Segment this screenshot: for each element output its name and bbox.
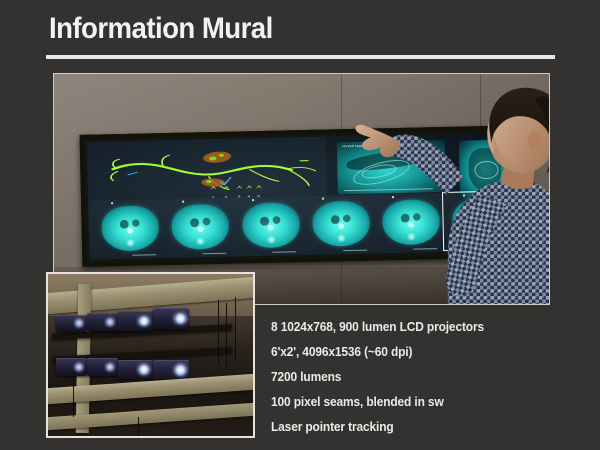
inset-photo-projector-rack [46, 272, 255, 438]
main-photo: 1 2 3 4 5 curved sagittal [53, 73, 550, 305]
title-divider [46, 55, 555, 59]
projector [87, 313, 118, 331]
sagittal-view-panel: curved sagittal [337, 140, 447, 194]
projector [153, 308, 190, 329]
projector [118, 360, 153, 379]
ct-slice [101, 206, 159, 252]
projector-lens [105, 362, 115, 372]
projector-lens [174, 313, 187, 325]
sagittal-label: curved sagittal [342, 144, 368, 149]
spec-line: 7200 lumens [271, 365, 575, 390]
projector [87, 358, 118, 376]
vascular-rendering: 1 2 3 4 5 [104, 142, 322, 201]
projector-lens [138, 316, 150, 327]
projector-lens [74, 318, 84, 328]
ct-slice-tick [393, 196, 395, 198]
spec-line: 100 pixel seams, blended in sw [271, 390, 575, 415]
ct-slice-tick [322, 198, 324, 200]
projector [118, 311, 153, 330]
cable [235, 297, 236, 362]
cable [226, 303, 227, 368]
ct-slice-selection-box [442, 191, 511, 252]
spec-line: 6'x2', 4096x1536 (~60 dpi) [271, 340, 575, 365]
ct-slice [312, 201, 370, 247]
page-title: Information Mural [49, 12, 273, 46]
ct-slice [242, 203, 300, 249]
sagittal-scale-bar [344, 188, 433, 191]
projector-lens [138, 364, 150, 375]
ct-slice [382, 200, 440, 246]
specs-text-block: 8 1024x768, 900 lumen LCD projectors 6'x… [271, 315, 591, 440]
projector [56, 358, 87, 376]
display-wall-frame: 1 2 3 4 5 curved sagittal [80, 125, 531, 267]
projector-lens [174, 364, 187, 376]
spec-line: 8 1024x768, 900 lumen LCD projectors [271, 315, 575, 340]
ct-slice-tick [112, 203, 114, 205]
ct-slice-tick [182, 201, 184, 203]
ct-slice-tick [252, 200, 254, 202]
cable [138, 417, 139, 436]
presentation-slide: Information Mural [0, 0, 600, 450]
projector-lens [105, 317, 115, 327]
spec-line: Laser pointer tracking [271, 415, 575, 440]
display-wall-screen: 1 2 3 4 5 curved sagittal [87, 133, 524, 261]
cable [218, 300, 219, 365]
cable [73, 371, 74, 416]
projector-lens [74, 362, 84, 372]
projector [56, 315, 87, 333]
ct-slice [172, 204, 230, 250]
